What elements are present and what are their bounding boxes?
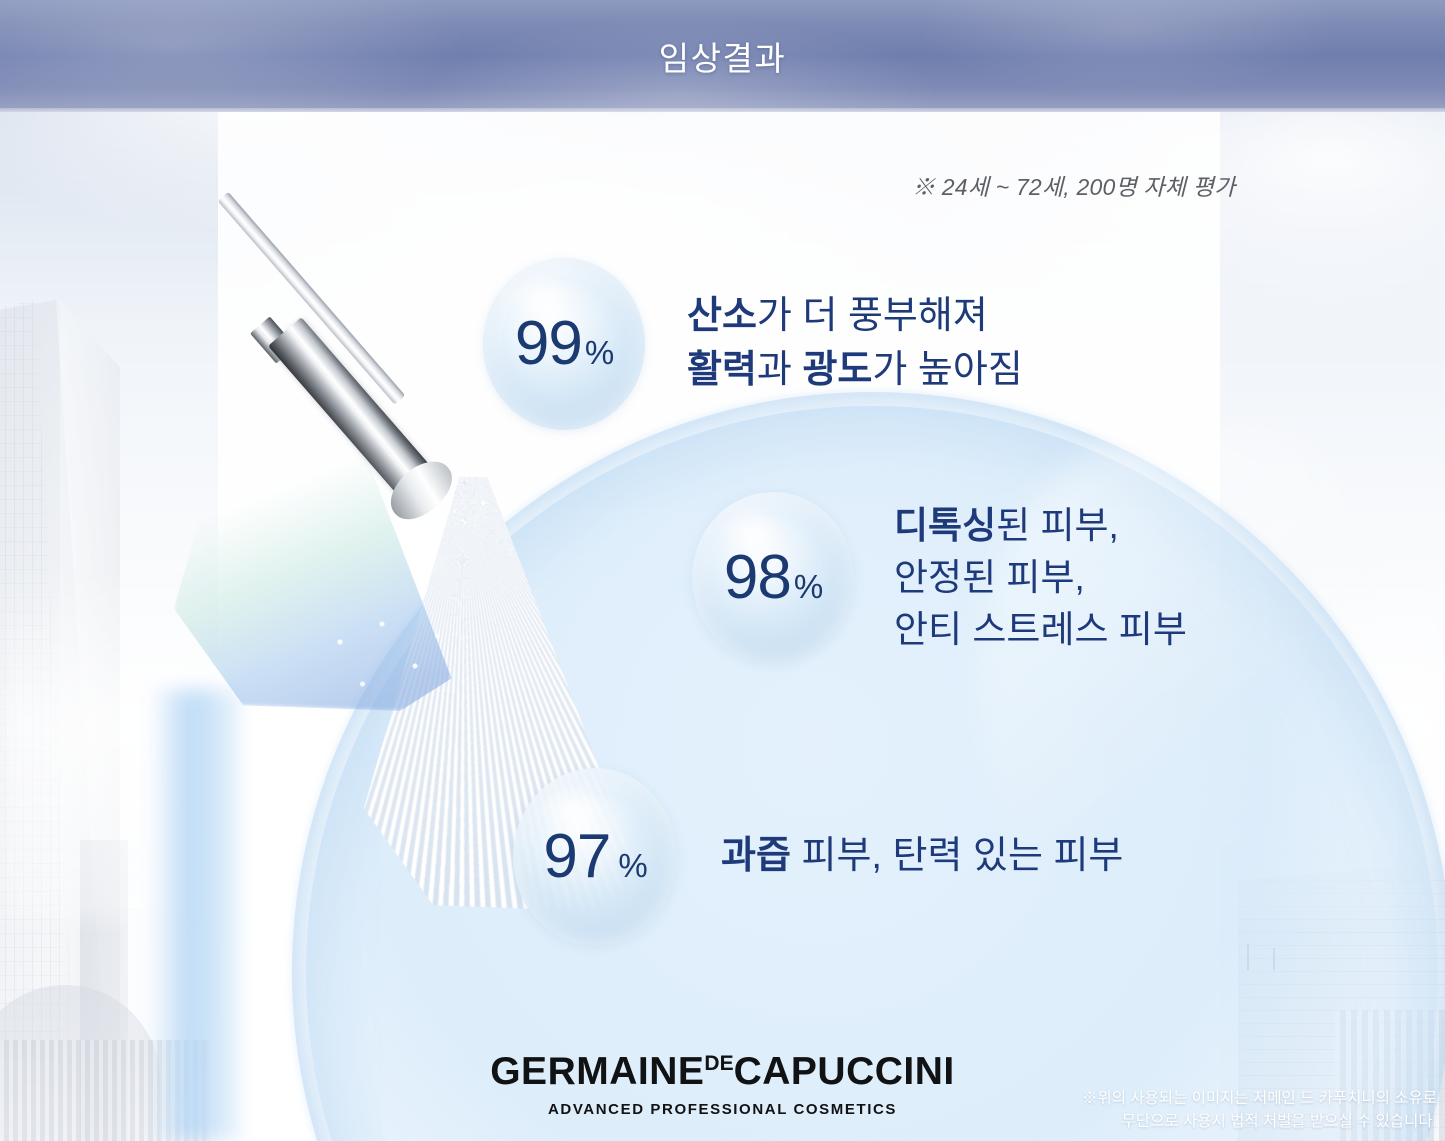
badge-percent-sign: % (618, 849, 646, 882)
result-description: 과즙 피부, 탄력 있는 피부 (721, 830, 1123, 884)
result-keyword: 산소 (687, 295, 757, 337)
copyright-line-1: ※위의 사용되는 이미지는 저메인 드 카푸치니의 소유로 (1082, 1088, 1437, 1110)
brand-name-part2: CAPUCCINI (734, 1050, 955, 1093)
result-description: 산소가 더 풍부해져 활력과 광도가 높아짐 (687, 290, 1023, 398)
result-line: 안정된 피부, (894, 552, 1187, 604)
badge-percent-sign: % (585, 336, 613, 369)
header-band: 임상결과 (0, 0, 1445, 112)
result-line-rest-2: 가 높아짐 (872, 349, 1022, 391)
result-line: 디톡싱된 피부, (894, 500, 1187, 552)
page-title: 임상결과 (659, 32, 786, 80)
percentage-badge: 97% (513, 768, 677, 946)
result-line-rest: 안티 스트레스 피부 (894, 609, 1187, 650)
result-line-rest: 된 피부, (996, 505, 1119, 546)
result-row: 99% 산소가 더 풍부해져 활력과 광도가 높아짐 (483, 258, 1023, 430)
result-line-rest: 피부, 탄력 있는 피부 (791, 835, 1123, 877)
copyright-line-2: 무단으로 사용시 법적 처벌을 받으실 수 있습니다. (1082, 1111, 1437, 1133)
result-line-rest: 과 (757, 349, 803, 391)
badge-number: 98 (724, 547, 791, 609)
result-line: 안티 스트레스 피부 (894, 604, 1187, 656)
badge-value: 99% (515, 313, 613, 375)
study-note: ※ 24세 ~ 72세, 200명 자체 평가 (912, 168, 1235, 202)
result-line: 활력과 광도가 높아짐 (687, 344, 1023, 398)
result-keyword: 디톡싱 (894, 505, 996, 546)
badge-percent-sign: % (794, 570, 822, 603)
percentage-badge: 99% (483, 258, 645, 430)
clinical-results-banner: 임상결과 ※ 24세 ~ 72세, 200명 자체 평가 99% 산소가 더 풍… (0, 0, 1445, 1141)
badge-value: 98% (724, 547, 822, 609)
result-keyword: 과즙 (721, 835, 791, 877)
brush-sparkle-highlights (310, 600, 460, 720)
result-row: 98% 디톡싱된 피부, 안정된 피부, 안티 스트레스 피부 (692, 492, 1187, 664)
badge-value: 97% (543, 826, 646, 888)
result-line-rest: 안정된 피부, (894, 557, 1085, 598)
result-row: 97% 과즙 피부, 탄력 있는 피부 (513, 768, 1123, 946)
badge-number: 97 (543, 826, 610, 888)
result-line: 과즙 피부, 탄력 있는 피부 (721, 830, 1123, 884)
result-description: 디톡싱된 피부, 안정된 피부, 안티 스트레스 피부 (894, 500, 1187, 655)
brand-name-superscript: DE (704, 1052, 733, 1075)
result-keyword: 활력 (687, 349, 757, 391)
brand-name-part1: GERMAINE (490, 1050, 704, 1093)
percentage-badge: 98% (692, 492, 854, 664)
result-line-rest: 가 더 풍부해져 (757, 295, 988, 337)
result-line: 산소가 더 풍부해져 (687, 290, 1023, 344)
badge-number: 99 (515, 313, 582, 375)
result-keyword-2: 광도 (802, 349, 872, 391)
copyright-notice: ※위의 사용되는 이미지는 저메인 드 카푸치니의 소유로 무단으로 사용시 법… (1082, 1088, 1437, 1133)
